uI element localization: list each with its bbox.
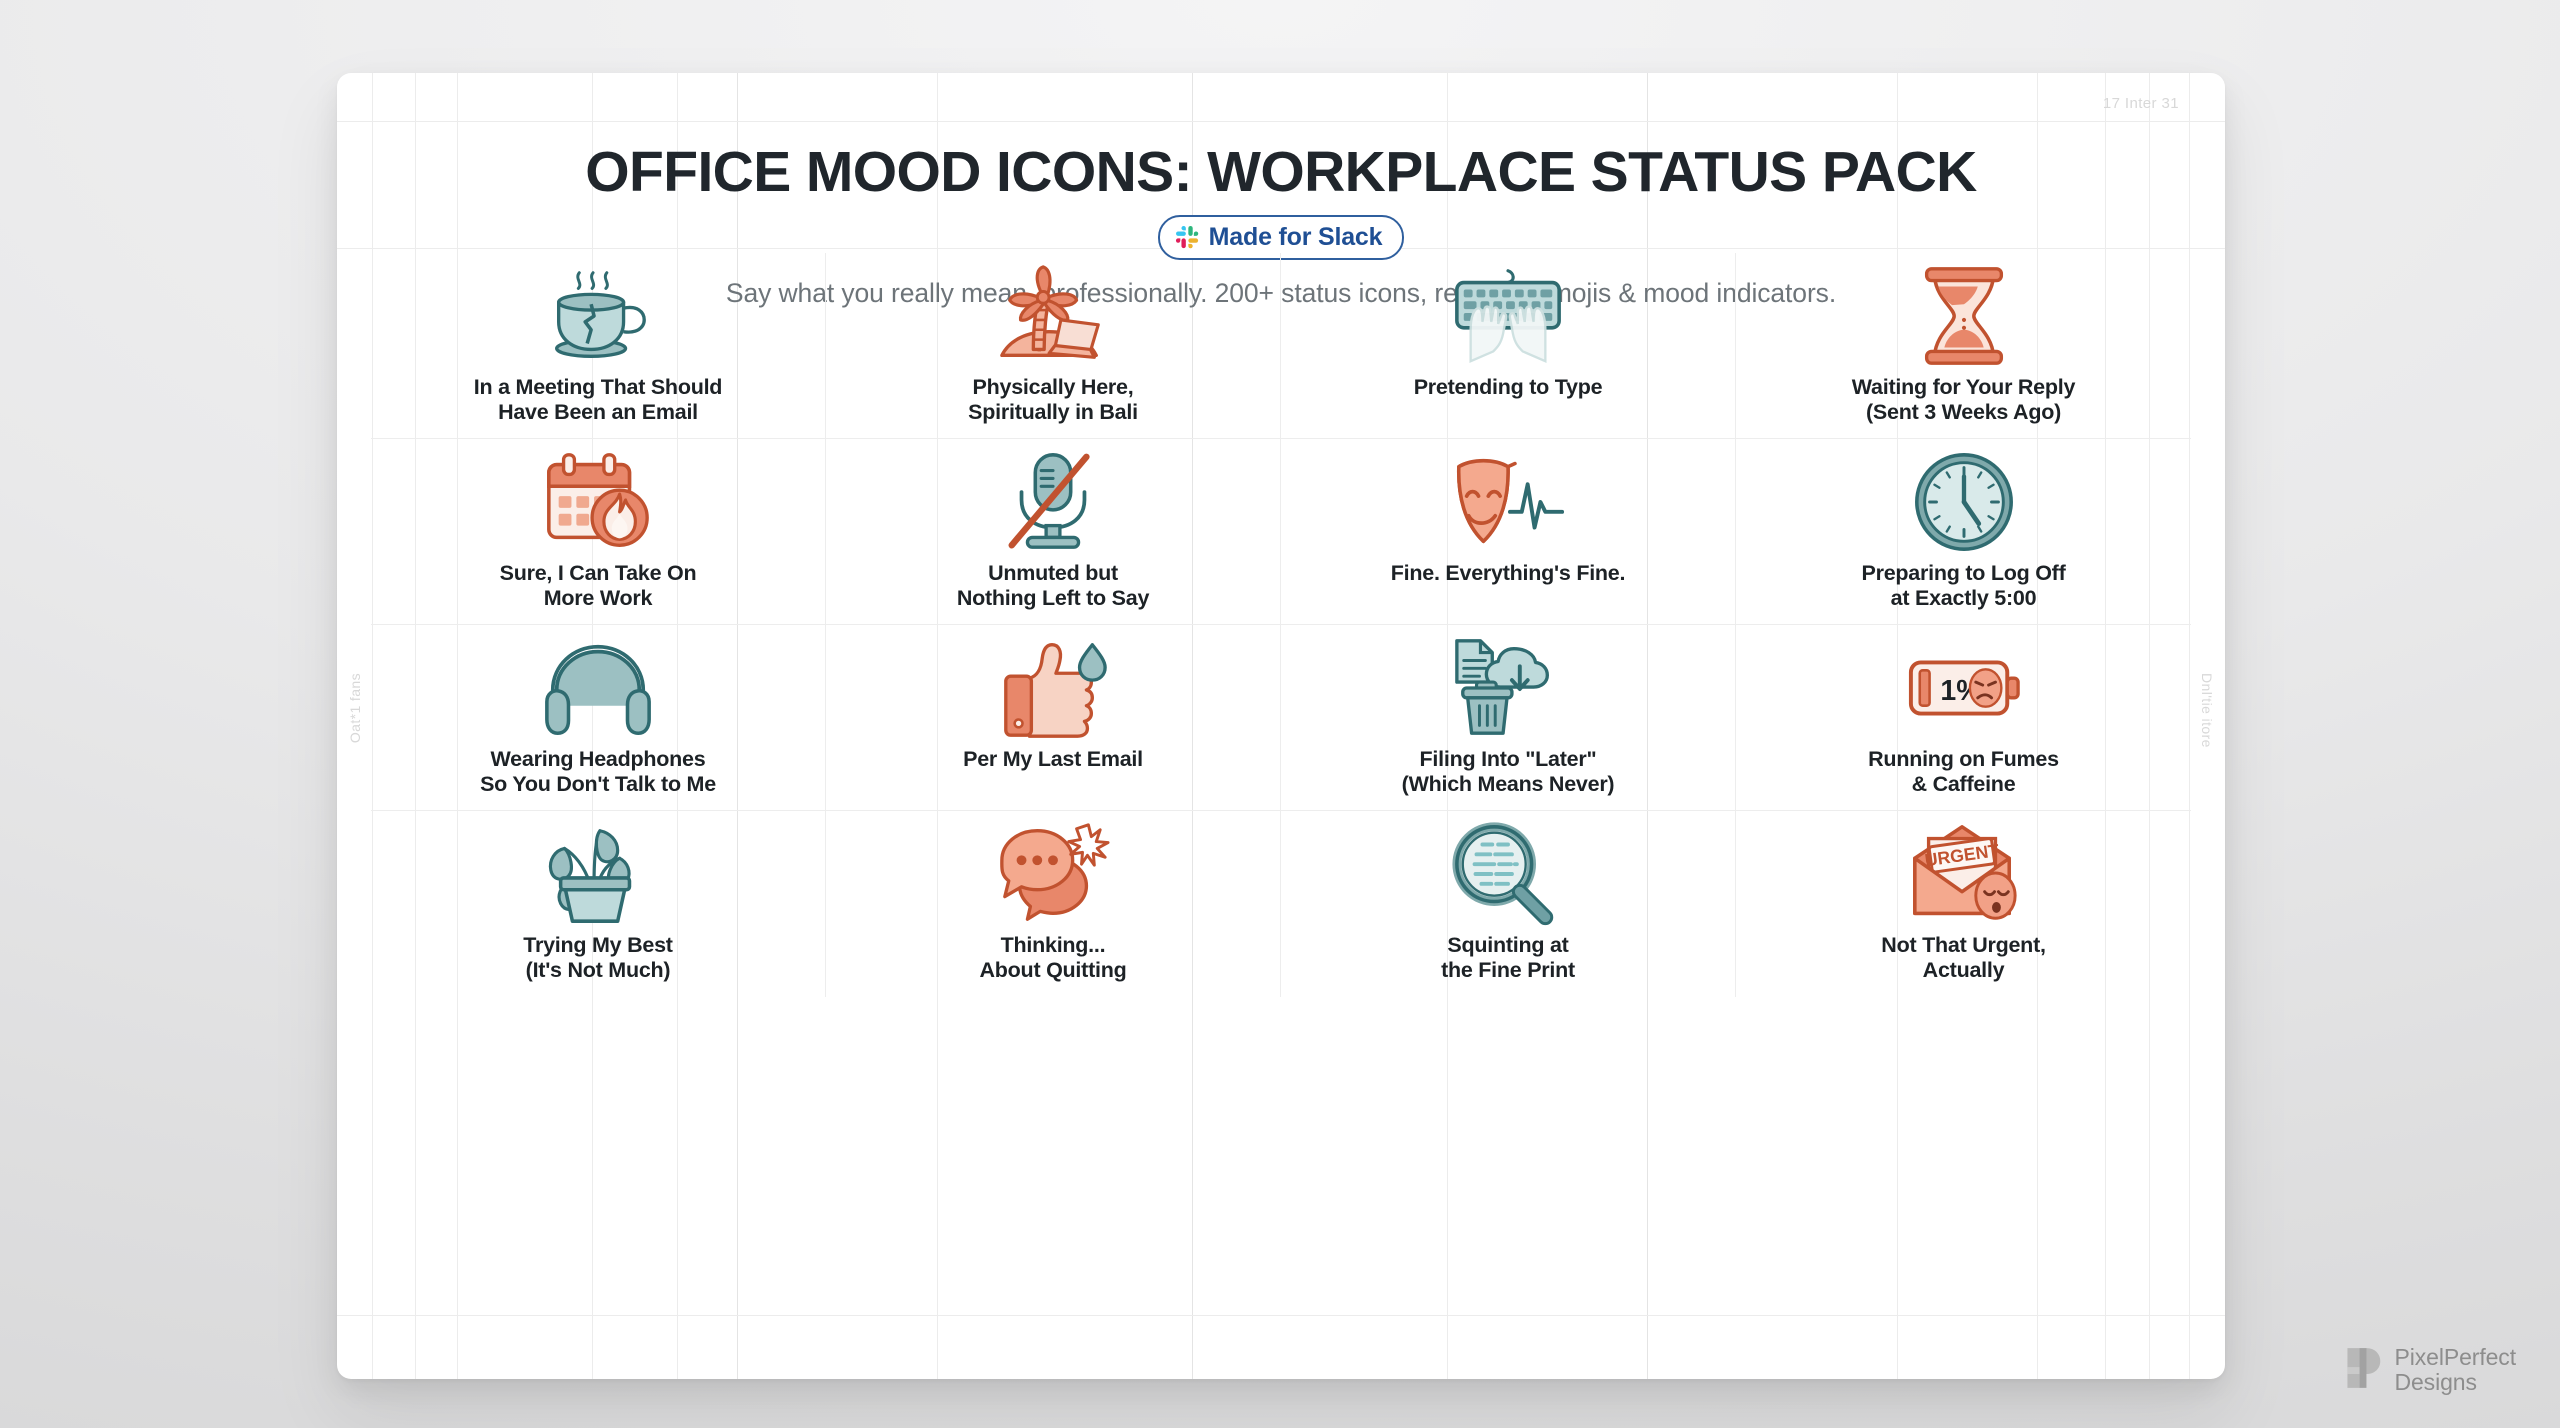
pixelperfect-p-logo-icon (2344, 1346, 2382, 1395)
icon-label: Preparing to Log Off at Exactly 5:00 (1853, 561, 2073, 612)
brand-mark: PixelPerfect Designs (2344, 1345, 2516, 1397)
icon-cell-wearing-headphones[interactable]: Wearing Headphones So You Don't Talk to … (371, 625, 826, 811)
icon-label: Squinting at the Fine Print (1433, 933, 1583, 984)
icon-cell-take-on-more-work[interactable]: Sure, I Can Take On More Work (371, 439, 826, 625)
headphones-icon (536, 634, 660, 742)
wilting-plant-icon (536, 820, 660, 928)
slack-logo-icon (1175, 225, 1200, 250)
icon-cell-pretending-to-type[interactable]: Pretending to Type (1281, 253, 1736, 439)
thumbs-up-sweat-icon (991, 634, 1115, 742)
icon-cell-physically-here[interactable]: Physically Here, Spiritually in Bali (826, 253, 1281, 439)
icon-cell-running-on-fumes[interactable]: 1% Running on Fumes & Caffeine (1736, 625, 2191, 811)
icon-label: Sure, I Can Take On More Work (492, 561, 705, 612)
page-title: OFFICE MOOD ICONS: WORKPLACE STATUS PACK (337, 143, 2225, 202)
icon-cell-in-a-meeting[interactable]: In a Meeting That Should Have Been an Em… (371, 253, 826, 439)
icon-cell-fine-everythings-fine[interactable]: Fine. Everything's Fine. (1281, 439, 1736, 625)
icon-label: Unmuted but Nothing Left to Say (949, 561, 1157, 612)
icon-label: Waiting for Your Reply (Sent 3 Weeks Ago… (1844, 375, 2083, 426)
margin-note-right: Dnl'tie itore (2199, 673, 2215, 748)
icon-label: Thinking... About Quitting (972, 933, 1135, 984)
margin-note-left: Oat*1 fans (347, 673, 363, 743)
icon-cell-filing-into-later[interactable]: Filing Into "Later" (Which Means Never) (1281, 625, 1736, 811)
icon-label: Wearing Headphones So You Don't Talk to … (472, 747, 724, 798)
urgent-envelope-icon: URGENT (1902, 820, 2026, 928)
hourglass-icon (1902, 262, 2026, 370)
icon-label: Filing Into "Later" (Which Means Never) (1394, 747, 1623, 798)
icon-label: Fine. Everything's Fine. (1383, 561, 1633, 586)
icon-grid: In a Meeting That Should Have Been an Em… (371, 253, 2191, 997)
icon-cell-waiting-for-reply[interactable]: Waiting for Your Reply (Sent 3 Weeks Ago… (1736, 253, 2191, 439)
muted-microphone-icon (991, 448, 1115, 556)
icon-cell-per-my-last-email[interactable]: Per My Last Email (826, 625, 1281, 811)
icon-cell-squinting-fine-print[interactable]: Squinting at the Fine Print (1281, 811, 1736, 997)
speech-bubbles-burst-icon (991, 820, 1115, 928)
icon-label: Trying My Best (It's Not Much) (515, 933, 680, 984)
icon-label: Not That Urgent, Actually (1873, 933, 2053, 984)
calendar-flame-icon (536, 448, 660, 556)
made-for-slack-label: Made for Slack (1209, 223, 1383, 252)
low-battery-sad-icon: 1% (1902, 634, 2026, 742)
keyboard-hands-icon (1446, 262, 1570, 370)
icon-cell-not-that-urgent[interactable]: URGENT Not That Urgent, Actually (1736, 811, 2191, 997)
icon-cell-log-off-at-five[interactable]: Preparing to Log Off at Exactly 5:00 (1736, 439, 2191, 625)
poster-card: 17 Inter 31 Oat*1 fans Dnl'tie itore OFF… (337, 73, 2225, 1379)
margin-note-top-right: 17 Inter 31 (2103, 95, 2179, 112)
file-cloud-trash-icon (1446, 634, 1570, 742)
icon-cell-unmuted-nothing-to-say[interactable]: Unmuted but Nothing Left to Say (826, 439, 1281, 625)
cracked-coffee-cup-icon (536, 262, 660, 370)
icon-label: Per My Last Email (955, 747, 1151, 772)
icon-label: In a Meeting That Should Have Been an Em… (466, 375, 730, 426)
brand-name: PixelPerfect Designs (2394, 1345, 2516, 1397)
icon-cell-thinking-about-quitting[interactable]: Thinking... About Quitting (826, 811, 1281, 997)
palm-tree-laptop-icon (991, 262, 1115, 370)
magnifier-fine-print-icon (1446, 820, 1570, 928)
smiling-mask-pulse-icon (1446, 448, 1570, 556)
icon-label: Physically Here, Spiritually in Bali (960, 375, 1146, 426)
icon-label: Running on Fumes & Caffeine (1860, 747, 2067, 798)
icon-cell-trying-my-best[interactable]: Trying My Best (It's Not Much) (371, 811, 826, 997)
icon-label: Pretending to Type (1406, 375, 1611, 400)
wall-clock-five-icon (1902, 448, 2026, 556)
